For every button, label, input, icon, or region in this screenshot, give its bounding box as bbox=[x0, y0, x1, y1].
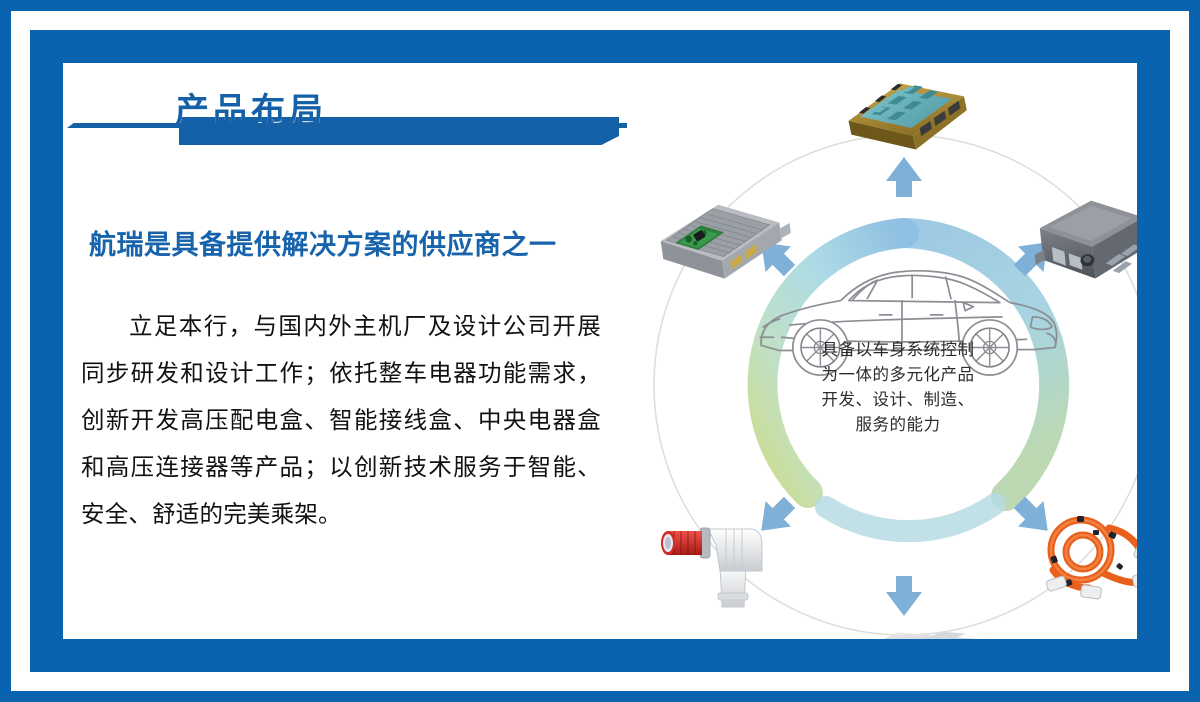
header-underline bbox=[67, 123, 627, 128]
caption-line-4: 服务的能力 bbox=[763, 412, 1033, 437]
wire-harness-icon bbox=[1046, 516, 1137, 599]
ring-arc-bottom bbox=[826, 504, 995, 531]
inner-border: 产品布局 航瑞是具备提供解决方案的供应商之一 立足本行，与国内外主机厂及设计公司… bbox=[30, 30, 1170, 672]
heatsink-module-icon bbox=[657, 195, 796, 286]
slide: 产品布局 航瑞是具备提供解决方案的供应商之一 立足本行，与国内外主机厂及设计公司… bbox=[0, 0, 1200, 702]
lead-statement: 航瑞是具备提供解决方案的供应商之一 bbox=[89, 223, 609, 262]
body-paragraph: 立足本行，与国内外主机厂及设计公司开展同步研发和设计工作；依托整车电器功能需求，… bbox=[81, 303, 601, 538]
left-panel: 产品布局 航瑞是具备提供解决方案的供应商之一 立足本行，与国内外主机厂及设计公司… bbox=[63, 63, 623, 639]
center-caption: 具备以车身系统控制 为一体的多元化产品 开发、设计、制造、 服务的能力 bbox=[763, 337, 1033, 437]
caption-line-2: 为一体的多元化产品 bbox=[763, 362, 1033, 387]
fuse-relay-box-icon bbox=[843, 71, 973, 162]
border-gap: 产品布局 航瑞是具备提供解决方案的供应商之一 立足本行，与国内外主机厂及设计公司… bbox=[11, 11, 1189, 691]
caption-line-1: 具备以车身系统控制 bbox=[763, 337, 1033, 362]
product-layout-diagram: 具备以车身系统控制 为一体的多元化产品 开发、设计、制造、 服务的能力 bbox=[611, 63, 1137, 639]
section-header: 产品布局 bbox=[81, 85, 621, 149]
hv-connector-icon bbox=[661, 528, 762, 607]
caption-line-3: 开发、设计、制造、 bbox=[763, 387, 1033, 412]
junction-box-icon bbox=[1030, 194, 1137, 284]
arrow-up bbox=[886, 157, 922, 197]
slide-canvas: 产品布局 航瑞是具备提供解决方案的供应商之一 立足本行，与国内外主机厂及设计公司… bbox=[63, 63, 1137, 639]
arrow-down bbox=[886, 576, 922, 616]
